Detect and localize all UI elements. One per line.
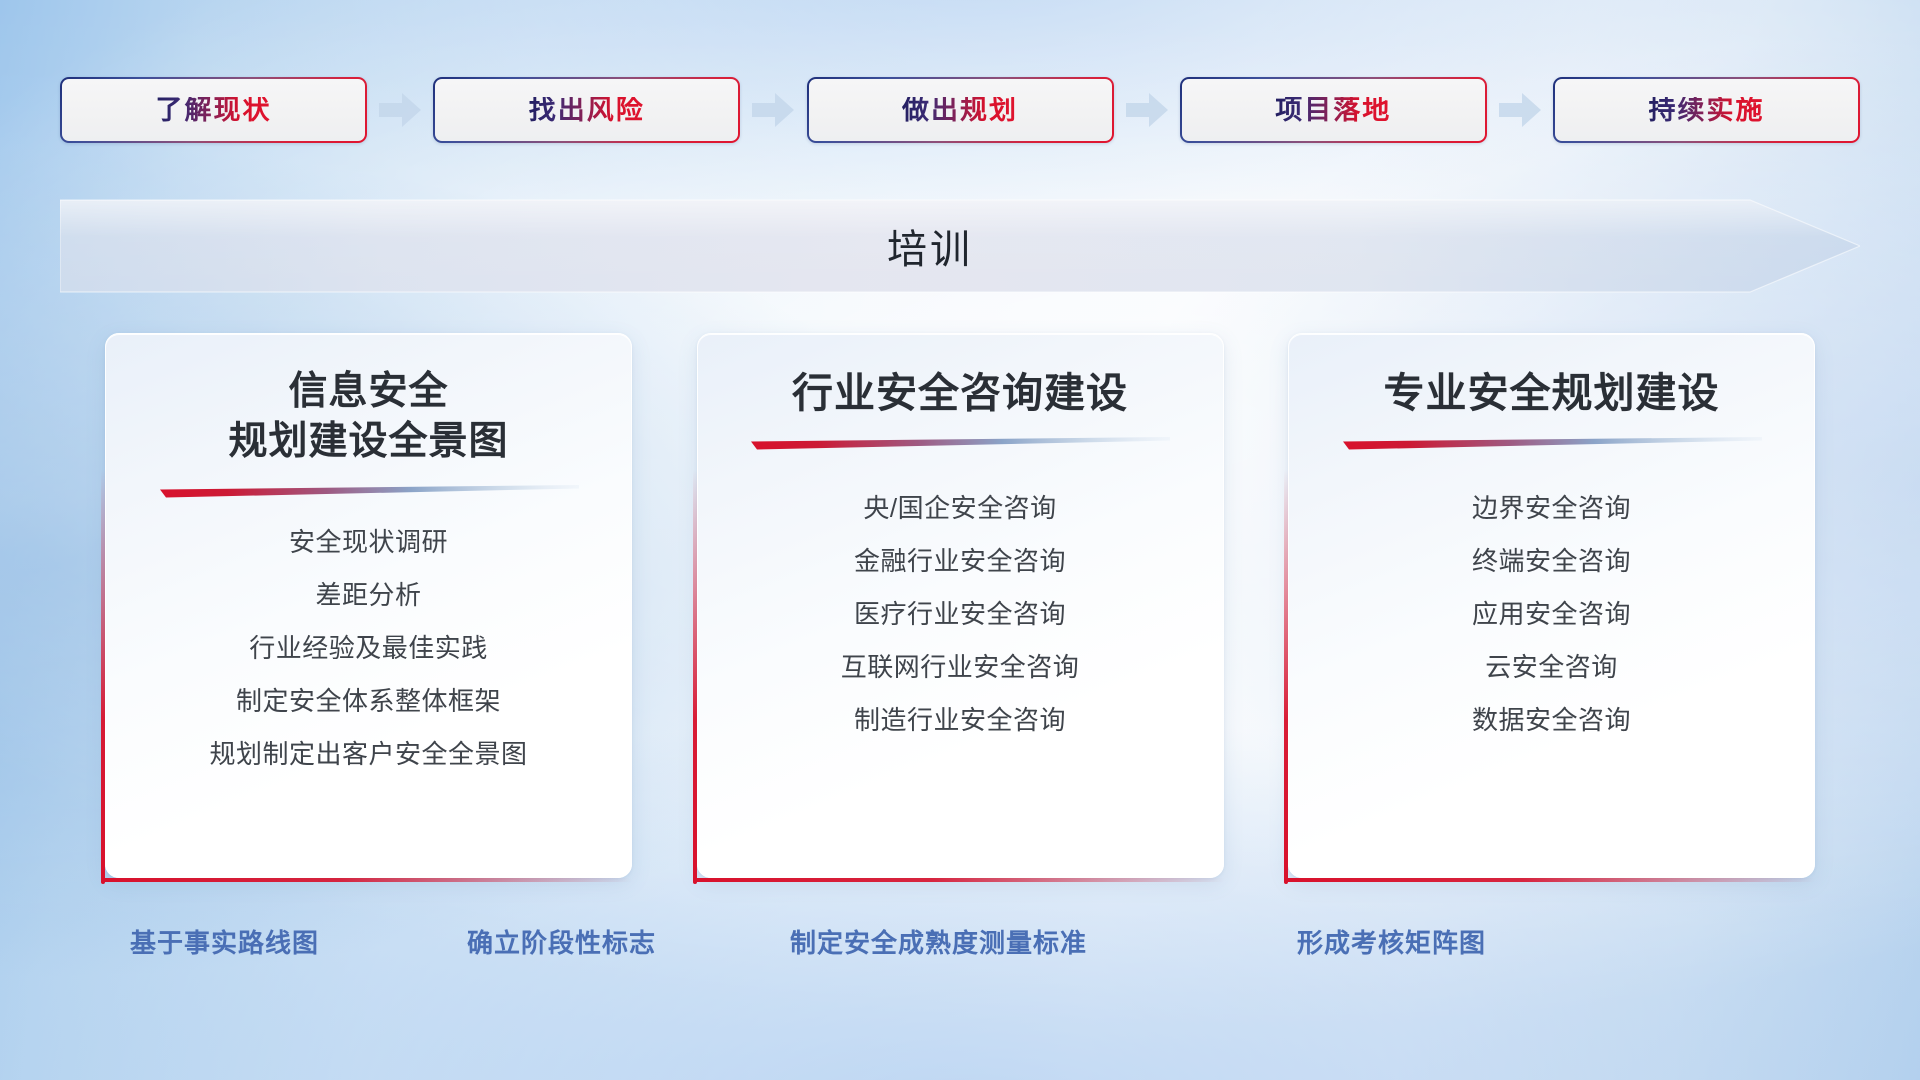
service-card-2[interactable]: 行业安全咨询建设央/国企安全咨询金融行业安全咨询医疗行业安全咨询互联网行业安全咨… — [697, 333, 1224, 878]
card-list-item[interactable]: 互联网行业安全咨询 — [725, 654, 1196, 680]
bottom-label-2: 确立阶段性标志 — [467, 920, 656, 966]
card-bottom-accent — [693, 878, 1224, 882]
card-item-list: 央/国企安全咨询金融行业安全咨询医疗行业安全咨询互联网行业安全咨询制造行业安全咨… — [725, 495, 1196, 760]
card-list-item[interactable]: 规划制定出客户安全全景图 — [133, 741, 604, 767]
card-divider — [159, 485, 579, 501]
card-title-line: 专业安全规划建设 — [1384, 367, 1720, 419]
card-title: 信息安全规划建设全景图 — [228, 367, 508, 467]
process-step-4[interactable]: 项目落地 — [1180, 77, 1487, 143]
right-arrow-icon — [377, 90, 423, 130]
card-title-line: 行业安全咨询建设 — [792, 367, 1128, 419]
training-banner: 培训 — [60, 190, 1860, 302]
card-divider — [750, 437, 1170, 453]
card-divider — [1342, 437, 1762, 453]
process-step-label: 找出风险 — [529, 97, 645, 124]
card-list-item[interactable]: 医疗行业安全咨询 — [725, 601, 1196, 627]
process-step-2[interactable]: 找出风险 — [433, 77, 740, 143]
card-item-list: 安全现状调研差距分析行业经验及最佳实践制定安全体系整体框架规划制定出客户安全全景… — [133, 529, 604, 794]
process-step-3[interactable]: 做出规划 — [807, 77, 1114, 143]
right-arrow-icon — [1497, 90, 1543, 130]
card-list-item[interactable]: 制造行业安全咨询 — [725, 707, 1196, 733]
card-list-item[interactable]: 数据安全咨询 — [1316, 707, 1787, 733]
process-step-inner: 了解现状 — [62, 79, 365, 141]
card-title: 行业安全咨询建设 — [792, 367, 1128, 419]
right-arrow-icon — [1124, 90, 1170, 130]
card-list-item[interactable]: 行业经验及最佳实践 — [133, 635, 604, 661]
card-row: 信息安全规划建设全景图安全现状调研差距分析行业经验及最佳实践制定安全体系整体框架… — [105, 333, 1815, 878]
process-step-5[interactable]: 持续实施 — [1553, 77, 1860, 143]
process-step-inner: 项目落地 — [1182, 79, 1485, 141]
card-list-item[interactable]: 金融行业安全咨询 — [725, 548, 1196, 574]
card-list-item[interactable]: 应用安全咨询 — [1316, 601, 1787, 627]
card-title-line: 规划建设全景图 — [228, 417, 508, 467]
process-step-row: 了解现状找出风险做出规划项目落地持续实施 — [60, 75, 1860, 145]
bottom-label-row: 基于事实路线图确立阶段性标志制定安全成熟度测量标准形成考核矩阵图 — [0, 920, 1920, 966]
bottom-label-4: 形成考核矩阵图 — [1297, 920, 1486, 966]
bottom-label-1: 基于事实路线图 — [130, 920, 319, 966]
card-list-item[interactable]: 安全现状调研 — [133, 529, 604, 555]
card-title: 专业安全规划建设 — [1384, 367, 1720, 419]
service-card-1[interactable]: 信息安全规划建设全景图安全现状调研差距分析行业经验及最佳实践制定安全体系整体框架… — [105, 333, 632, 878]
card-body: 专业安全规划建设边界安全咨询终端安全咨询应用安全咨询云安全咨询数据安全咨询 — [1288, 333, 1815, 878]
card-title-line: 信息安全 — [228, 367, 508, 417]
card-list-item[interactable]: 制定安全体系整体框架 — [133, 688, 604, 714]
bottom-label-3: 制定安全成熟度测量标准 — [790, 920, 1087, 966]
card-list-item[interactable]: 终端安全咨询 — [1316, 548, 1787, 574]
card-list-item[interactable]: 央/国企安全咨询 — [725, 495, 1196, 521]
card-body: 信息安全规划建设全景图安全现状调研差距分析行业经验及最佳实践制定安全体系整体框架… — [105, 333, 632, 878]
card-body: 行业安全咨询建设央/国企安全咨询金融行业安全咨询医疗行业安全咨询互联网行业安全咨… — [697, 333, 1224, 878]
card-list-item[interactable]: 差距分析 — [133, 582, 604, 608]
process-step-inner: 持续实施 — [1555, 79, 1858, 141]
service-card-3[interactable]: 专业安全规划建设边界安全咨询终端安全咨询应用安全咨询云安全咨询数据安全咨询 — [1288, 333, 1815, 878]
right-arrow-icon — [750, 90, 796, 130]
process-step-1[interactable]: 了解现状 — [60, 77, 367, 143]
card-list-item[interactable]: 云安全咨询 — [1316, 654, 1787, 680]
process-step-inner: 做出规划 — [809, 79, 1112, 141]
card-bottom-accent — [1284, 878, 1815, 882]
process-step-inner: 找出风险 — [435, 79, 738, 141]
process-step-label: 持续实施 — [1649, 97, 1765, 124]
process-step-label: 了解现状 — [156, 97, 272, 124]
card-bottom-accent — [101, 878, 632, 882]
banner-title: 培训 — [60, 190, 1860, 302]
process-step-label: 做出规划 — [902, 97, 1018, 124]
card-item-list: 边界安全咨询终端安全咨询应用安全咨询云安全咨询数据安全咨询 — [1316, 495, 1787, 760]
process-step-label: 项目落地 — [1275, 97, 1391, 124]
card-list-item[interactable]: 边界安全咨询 — [1316, 495, 1787, 521]
